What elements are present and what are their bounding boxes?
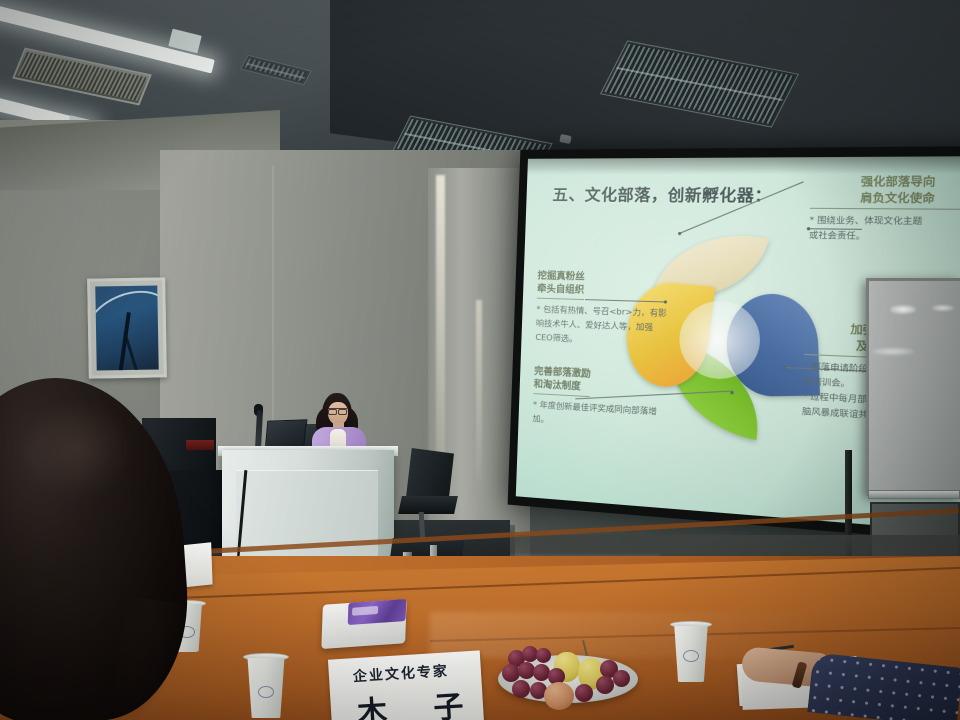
cup-logo-icon [258, 686, 274, 698]
whiteboard-glare [872, 348, 914, 355]
grape [512, 680, 530, 698]
red-object [186, 440, 214, 450]
leader-dot [730, 391, 733, 394]
slide-callout-top-right: 强化部落导向 肩负文化使命 * 围绕业务、体现文化主题 或社会责任。 [809, 174, 960, 247]
callout-body: * 围绕业务、体现文化主题 或社会责任。 [809, 214, 960, 247]
grape [596, 676, 614, 694]
callout-heading: 完善部落激励 和淘汰制度 [533, 365, 591, 397]
callout-body: * 包括有热情、号召<br>力，有影响技术牛人、爱好达人等，加强CEO筛选。 [535, 303, 668, 350]
chair-seat [398, 496, 458, 514]
cup-logo-icon [683, 650, 699, 662]
apple-fruit [544, 682, 574, 710]
tissue-pack-label [348, 599, 407, 625]
grape [575, 684, 593, 702]
conference-room-photo: 五、文化部落，创新孵化器： 强化部落导向 肩负文化使命 [0, 0, 960, 720]
glasses-icon [328, 408, 347, 412]
slide-callout-bottom-left: 完善部落激励 和淘汰制度 * 年度创新最佳评奖成同向部落增加。 [532, 365, 665, 435]
slide-callout-top-left: 挖掘真粉丝 牵头自组织 * 包括有热情、号召<br>力，有影响技术牛人、爱好达人… [535, 269, 669, 350]
whiteboard-marker-tray [868, 490, 960, 499]
podium-front-panel [236, 470, 378, 570]
framed-picture [87, 277, 167, 378]
whiteboard-glare [890, 305, 916, 314]
picture-artwork [95, 285, 158, 370]
wall-light-reflection [476, 300, 482, 480]
wall-light-reflection [436, 175, 445, 455]
slide-title: 五、文化部落，创新孵化器： [552, 183, 773, 207]
grape [613, 670, 630, 687]
callout-heading: 强化部落导向 肩负文化使命 [810, 174, 960, 210]
callout-heading: 挖掘真粉丝 牵头自组织 [537, 269, 585, 300]
leader-dot [782, 366, 785, 369]
name-card: 企业文化专家 木 子 [328, 650, 484, 720]
screen-top-shadow [527, 156, 960, 175]
whiteboard-glare [932, 305, 954, 311]
callout-body: * 年度创新最佳评奖成同向部落增加。 [532, 398, 664, 434]
name-card-name: 木 子 [356, 680, 483, 720]
grape [536, 648, 551, 663]
grape [502, 664, 520, 682]
